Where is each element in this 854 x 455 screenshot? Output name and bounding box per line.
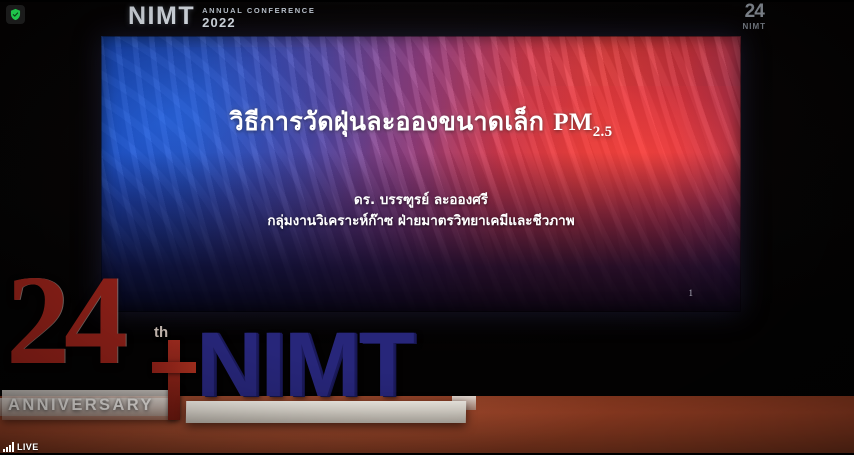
anniversary-badge-label: NIMT (742, 22, 766, 31)
anniversary-ordinal: th (154, 324, 168, 341)
slide-title-thai: วิธีการวัดฝุ่นละอองขนาดเล็ก (230, 107, 545, 136)
nimt-letters-base (186, 401, 466, 423)
slide-speaker-affiliation: กลุ่มงานวิเคราะห์ก๊าซ ฝ่ายมาตรวิทยาเคมีแ… (101, 209, 741, 231)
anniversary-cross-horizontal (152, 362, 196, 373)
slide-title: วิธีการวัดฝุ่นละอองขนาดเล็ก PM2.5 (101, 102, 741, 142)
brand-lockup-right: 24 NIMT (742, 2, 766, 31)
nimt-stage-letters: NIMT (196, 325, 413, 406)
anniversary-badge-number: 24 (742, 2, 766, 21)
anniversary-word: ANNIVERSARY (8, 396, 154, 415)
slide-title-pm: PM (553, 109, 592, 136)
anniversary-cross-vertical (168, 340, 180, 420)
slide-speaker-name: ดร. บรรฑูรย์ ละอองศรี (101, 188, 741, 210)
video-stream-frame: NIMT ANNUAL CONFERENCE 2022 24 NIMT วิธี… (0, 0, 854, 455)
anniversary-number: 24 (6, 256, 122, 384)
brand-year: 2022 (202, 16, 315, 31)
nimt-stage-letters-prop: NIMT (196, 325, 413, 406)
brand-lockup-left: NIMT ANNUAL CONFERENCE 2022 (128, 4, 315, 31)
presentation-screen: วิธีการวัดฝุ่นละอองขนาดเล็ก PM2.5 ดร. บร… (101, 36, 741, 312)
live-label: LIVE (17, 443, 39, 452)
event-branding-header: NIMT ANNUAL CONFERENCE 2022 24 NIMT (0, 0, 854, 38)
slide-content: วิธีการวัดฝุ่นละอองขนาดเล็ก PM2.5 ดร. บร… (101, 36, 741, 312)
brand-name: NIMT (128, 4, 195, 29)
slide-title-pm-subscript: 2.5 (593, 124, 613, 140)
slide-page-number: 1 (689, 288, 694, 298)
shield-check-icon (9, 8, 22, 21)
live-status-indicator: LIVE (3, 442, 39, 452)
signal-bars-icon (3, 442, 14, 452)
anniversary-logo-prop: 24 th ANNIVERSARY (2, 262, 197, 427)
recording-status-badge[interactable] (6, 5, 25, 24)
frame-edge-top (0, 0, 854, 2)
brand-tagline-block: ANNUAL CONFERENCE 2022 (202, 4, 315, 31)
